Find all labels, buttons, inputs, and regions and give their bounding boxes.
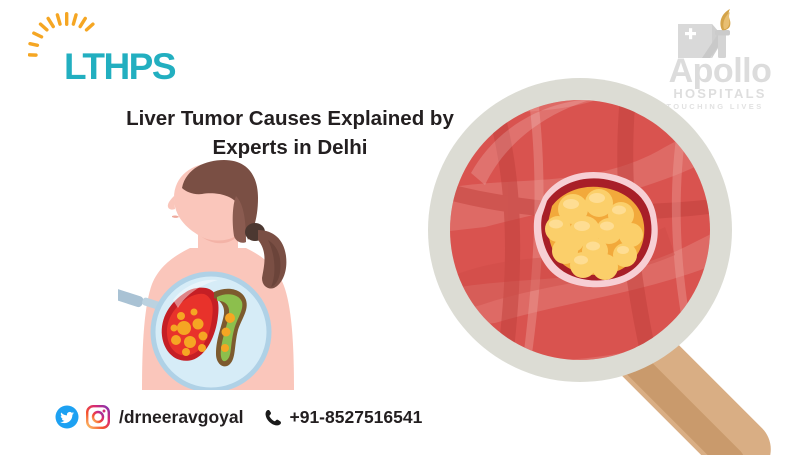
woman-profile-illustration bbox=[118, 160, 318, 390]
brand-logo: LTHPS bbox=[18, 12, 168, 92]
social-handle[interactable]: /drneeravgoyal bbox=[119, 407, 244, 428]
lips-shape bbox=[172, 215, 179, 217]
footer-contact-bar: /drneeravgoyal +91-8527516541 bbox=[55, 405, 422, 429]
headline-line-2: Experts in Delhi bbox=[213, 136, 368, 159]
poster-canvas: LTHPS Apollo HOSPITALS TOUCHING LIVES Li… bbox=[0, 0, 800, 455]
twitter-icon[interactable] bbox=[55, 405, 79, 429]
page-title: Liver Tumor Causes Explained by Experts … bbox=[110, 104, 470, 162]
brand-wordmark: LTHPS bbox=[64, 48, 175, 85]
headline-line-1: Liver Tumor Causes Explained by bbox=[126, 107, 454, 130]
instagram-icon[interactable] bbox=[86, 405, 110, 429]
tumor-mass bbox=[534, 172, 658, 287]
phone-number[interactable]: +91-8527516541 bbox=[290, 407, 423, 428]
phone-icon bbox=[263, 408, 282, 427]
nose-shape bbox=[168, 196, 175, 210]
liver-tumor-magnifier bbox=[425, 75, 800, 455]
